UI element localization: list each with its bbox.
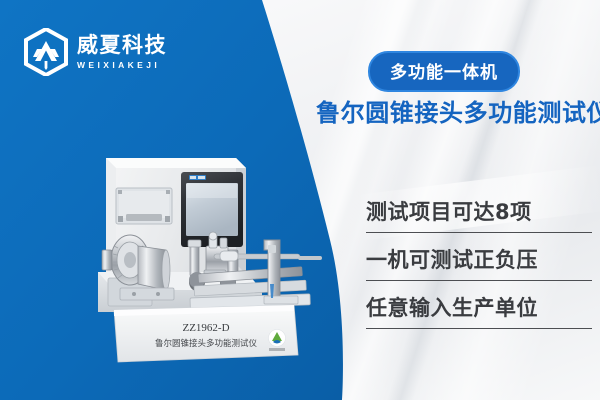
product-model-label: ZZ1962-D — [182, 322, 229, 334]
feature-label: 任意输入生产单位 — [366, 292, 592, 328]
product-banner: 威夏科技 WEIXIAKEJI 多功能一体机 鲁尔圆锥接头多功能测试仪 测试项目… — [0, 0, 600, 400]
page-title: 鲁尔圆锥接头多功能测试仪 — [316, 93, 600, 128]
brand-logo: 威夏科技 WEIXIAKEJI — [24, 28, 167, 76]
divider — [366, 232, 592, 233]
feature-label: 测试项目可达8项 — [366, 196, 592, 232]
headline-badge: 多功能一体机 — [368, 51, 520, 92]
list-item: 一机可测试正负压 — [366, 244, 592, 281]
hexagon-mountain-logo-icon — [24, 28, 68, 76]
brand-name-en: WEIXIAKEJI — [77, 61, 167, 70]
access-panel-icon — [116, 188, 172, 224]
divider — [366, 328, 592, 329]
list-item: 测试项目可达8项 — [366, 196, 592, 233]
feature-label: 一机可测试正负压 — [366, 244, 592, 280]
brand-name-cn: 威夏科技 — [77, 35, 167, 56]
product-name-label: 鲁尔圆锥接头多功能测试仪 — [155, 338, 258, 349]
machine-base: ZZ1962-D 鲁尔圆锥接头多功能测试仪 — [114, 305, 298, 362]
list-item: 任意输入生产单位 — [366, 292, 592, 329]
feature-list: 测试项目可达8项 一机可测试正负压 任意输入生产单位 — [366, 196, 592, 340]
divider — [366, 280, 592, 281]
product-machine-image: ZZ1962-D 鲁尔圆锥接头多功能测试仪 — [94, 150, 326, 372]
